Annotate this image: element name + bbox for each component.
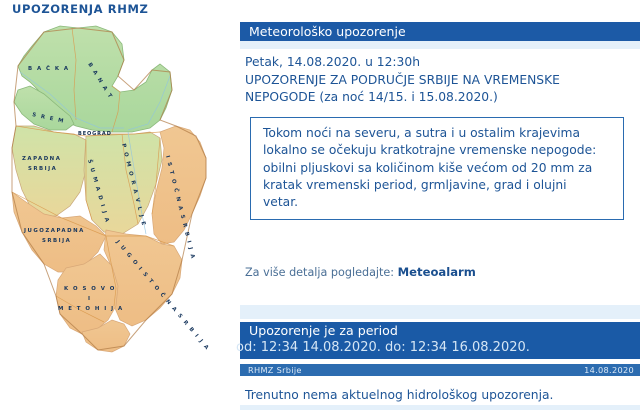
warning-text-box: Tokom noći na severu, a sutra i u ostali…	[250, 117, 624, 220]
footer-source-label: RHMZ Srbije	[248, 364, 302, 376]
page-title: UPOZORENJA RHMZ	[12, 2, 148, 16]
map-label-metohija: M E T O H I J A	[58, 306, 124, 312]
meteoalarm-link[interactable]: Meteoalarm	[398, 265, 476, 279]
hydrological-note: Trenutno nema aktuelnog hidrološkog upoz…	[245, 388, 553, 402]
map-label-backa: B A Č K A	[28, 65, 70, 72]
serbia-map-svg: B A Č K A B A N A T S R E M BEOGRAD ZAPA…	[0, 20, 236, 365]
period-underlay	[240, 305, 640, 319]
map-label-jugozapadna-srbija-line2: SRBIJA	[42, 238, 71, 244]
map-label-zapadna-srbija-line2: SRBIJA	[28, 166, 57, 172]
hydro-underlay	[240, 405, 640, 410]
meteo-intro-line-1: Petak, 14.08.2020. u 12:30h	[245, 54, 635, 72]
more-details-prefix: Za više detalja pogledajte:	[245, 266, 394, 279]
period-range: od: 12:34 14.08.2020. do: 12:34 16.08.20…	[236, 340, 530, 355]
warning-line-2: lokalno se očekuju kratkotrajne vremensk…	[263, 142, 613, 159]
warning-line-4: kratak vremenski period, grmljavine, gra…	[263, 177, 613, 194]
map-label-beograd: BEOGRAD	[78, 131, 112, 137]
warning-line-3: obilni pljuskovi sa količinom kiše većom…	[263, 160, 613, 177]
warning-content-panel: Meteorološko upozorenje Petak, 14.08.202…	[236, 0, 640, 410]
meteo-intro-line-3: NEPOGODE (za noć 14/15. i 15.08.2020.)	[245, 89, 635, 107]
warning-period-block: Upozorenje je za period od: 12:34 14.08.…	[240, 322, 640, 359]
meteo-intro-line-2: UPOZORENJE ZA PODRUČJE SRBIJE NA VREMENS…	[245, 72, 635, 90]
map-label-kosovo: K O S O V O	[64, 286, 116, 292]
meteo-header-underlay	[240, 41, 640, 49]
more-details-line: Za više detalja pogledajte: Meteoalarm	[245, 265, 476, 279]
meteo-warning-header: Meteorološko upozorenje	[240, 22, 640, 41]
source-footer-bar: RHMZ Srbije 14.08.2020	[240, 364, 640, 376]
map-label-kosovo-i: I	[88, 296, 92, 302]
footer-date-label: 14.08.2020	[584, 364, 634, 376]
period-title: Upozorenje je za period	[249, 323, 398, 338]
map-label-jugozapadna-srbija-line1: JUGOZAPADNA	[23, 228, 85, 234]
meteo-intro-text: Petak, 14.08.2020. u 12:30h UPOZORENJE Z…	[245, 54, 635, 107]
map-label-zapadna-srbija-line1: ZAPADNA	[22, 156, 61, 162]
serbia-map-panel: B A Č K A B A N A T S R E M BEOGRAD ZAPA…	[0, 20, 236, 365]
warning-line-5: vetar.	[263, 194, 613, 211]
warning-line-1: Tokom noći na severu, a sutra i u ostali…	[263, 125, 613, 142]
